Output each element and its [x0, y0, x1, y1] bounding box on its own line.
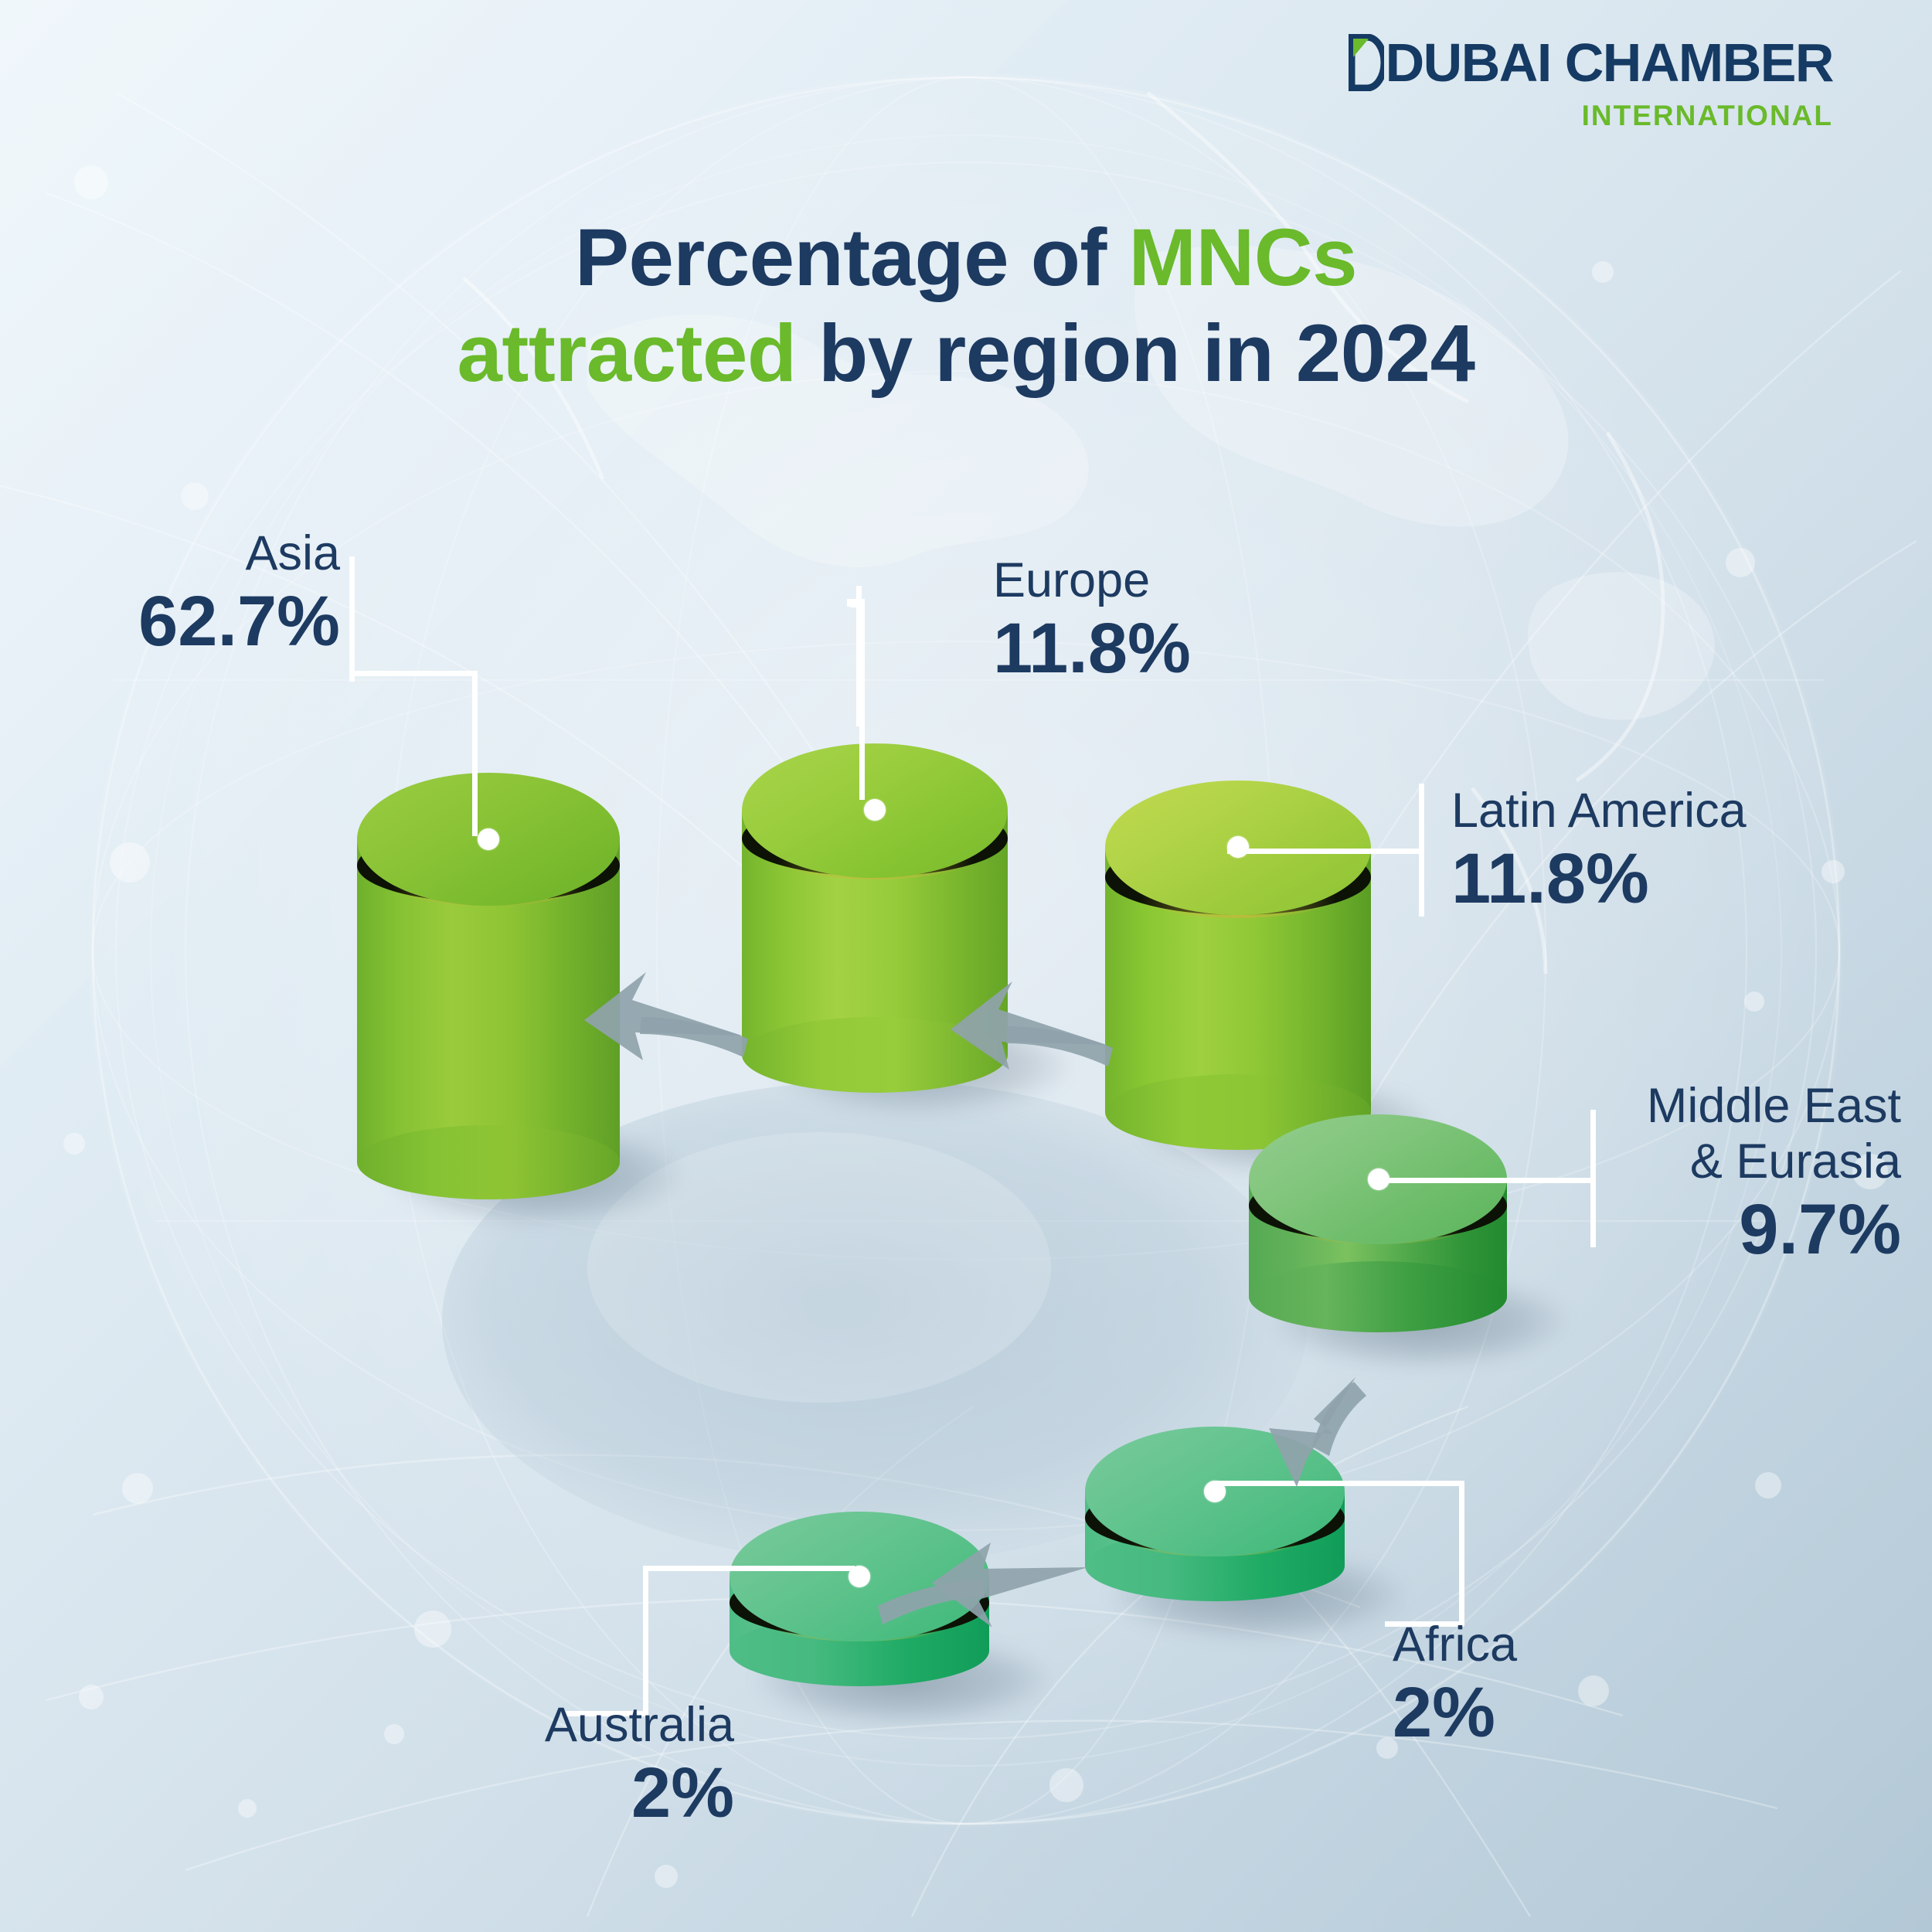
label-europe: Europe 11.8%: [993, 553, 1364, 689]
label-africa-value: 2%: [1393, 1672, 1717, 1753]
title-part-plain-2: by region in 2024: [797, 308, 1475, 399]
label-middle-east-value: 9.7%: [1515, 1189, 1901, 1270]
label-middle-east-eurasia: Middle East & Eurasia 9.7%: [1515, 1078, 1901, 1270]
cylinder-africa: [1085, 1427, 1345, 1612]
title-line-2: attracted by region in 2024: [0, 306, 1932, 402]
cylinder-australia: [730, 1512, 989, 1697]
label-asia-value: 62.7%: [31, 581, 340, 662]
title-part-plain-1: Percentage of: [575, 213, 1129, 303]
infographic-canvas: DUBAI CHAMBER INTERNATIONAL Percentage o…: [0, 0, 1932, 1932]
label-europe-value: 11.8%: [993, 608, 1364, 689]
label-africa-name: Africa: [1393, 1617, 1717, 1672]
label-europe-name: Europe: [993, 553, 1364, 608]
cylinder-asia: [357, 773, 620, 1206]
leader-dot-latin-america: [1227, 836, 1249, 858]
label-asia: Asia 62.7%: [31, 526, 340, 662]
dubai-chamber-d-mark-icon: [1349, 34, 1384, 91]
label-africa: Africa 2%: [1393, 1617, 1717, 1753]
leader-dot-europe: [864, 799, 886, 821]
logo-subtitle: INTERNATIONAL: [1349, 100, 1833, 131]
label-middle-east-name: Middle East & Eurasia: [1515, 1078, 1901, 1189]
cylinder-europe: [742, 743, 1008, 1091]
title-line-1: Percentage of MNCs: [0, 210, 1932, 306]
cylinder-middle-east-eurasia: [1249, 1114, 1507, 1346]
label-australia-name: Australia: [255, 1697, 734, 1753]
title-part-highlight-mncs: MNCs: [1129, 213, 1358, 303]
brand-logo: DUBAI CHAMBER INTERNATIONAL: [1349, 34, 1833, 131]
cylinder-latin-america: [1105, 781, 1371, 1151]
page-title: Percentage of MNCs attracted by region i…: [0, 210, 1932, 402]
label-australia: Australia 2%: [255, 1697, 734, 1833]
label-asia-name: Asia: [31, 526, 340, 581]
label-australia-value: 2%: [255, 1753, 734, 1833]
label-latin-america-value: 11.8%: [1451, 838, 1930, 919]
logo-wordmark: DUBAI CHAMBER: [1386, 34, 1833, 91]
leader-dot-asia: [478, 828, 499, 850]
label-latin-america-name: Latin America: [1451, 783, 1930, 838]
label-latin-america: Latin America 11.8%: [1451, 783, 1930, 919]
title-part-highlight-attracted: attracted: [457, 308, 797, 399]
